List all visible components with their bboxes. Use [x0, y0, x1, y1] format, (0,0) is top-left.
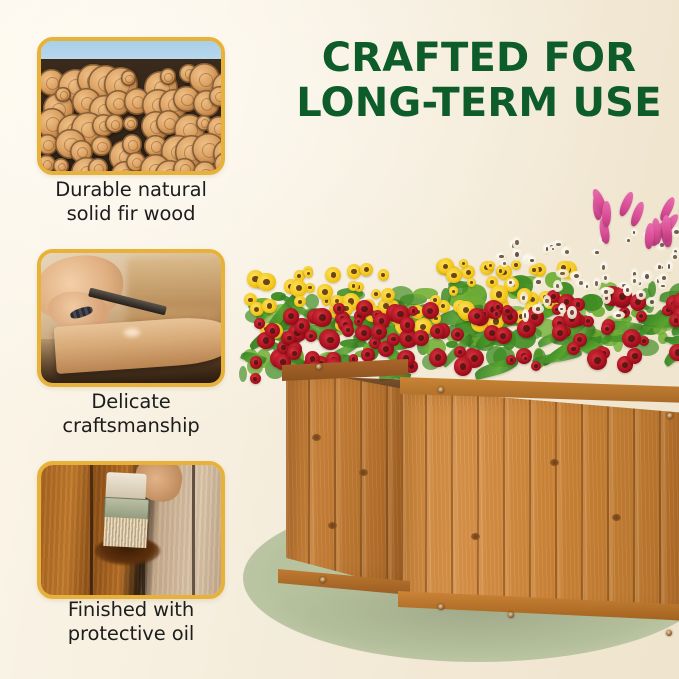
- wood-grain: [286, 367, 404, 589]
- cream-filler-flower: [520, 292, 528, 304]
- red-bloom: [283, 308, 300, 325]
- cream-filler-flower: [556, 269, 569, 279]
- cream-filler-flower: [631, 228, 638, 238]
- yellow-daisy: [371, 289, 382, 300]
- red-bloom: [342, 324, 355, 337]
- yellow-daisy: [304, 269, 313, 278]
- cream-filler-flower: [658, 283, 669, 290]
- red-bloom: [254, 318, 265, 329]
- cream-filler-flower: [543, 243, 550, 254]
- yellow-daisy: [511, 260, 521, 270]
- pink-lily-bud: [602, 201, 611, 227]
- red-bloom: [492, 310, 501, 319]
- log-end: [53, 158, 69, 171]
- cream-filler-flower: [549, 246, 556, 252]
- planter-left-panel: [286, 367, 404, 589]
- page-title: CRAFTED FOR LONG-TERM USE: [286, 38, 672, 124]
- screw-head: [438, 604, 444, 610]
- red-bloom: [495, 327, 512, 344]
- cream-filler-flower: [591, 249, 602, 256]
- feature-caption-2: Delicate craftsmanship: [20, 390, 242, 438]
- cream-filler-flower: [646, 297, 657, 307]
- log-end: [55, 87, 71, 103]
- wood-grain: [403, 389, 679, 621]
- red-bloom: [312, 308, 332, 328]
- stacked-fir-logs-photo: [41, 41, 221, 171]
- yellow-daisy: [378, 269, 389, 280]
- red-bloom: [552, 324, 569, 341]
- cream-filler-flower: [670, 252, 679, 262]
- headline-line-1: CRAFTED FOR: [322, 35, 637, 81]
- red-bloom: [636, 311, 647, 322]
- red-bloom: [250, 356, 262, 368]
- caption-2-line-1: Delicate: [91, 390, 170, 413]
- screw-head: [667, 413, 673, 419]
- log-end: [160, 68, 176, 84]
- cream-filler-flower: [602, 273, 610, 284]
- cream-filler-flower: [512, 236, 522, 249]
- feature-caption-3: Finished with protective oil: [20, 598, 242, 646]
- cream-filler-flower: [532, 304, 544, 314]
- red-bloom: [305, 330, 317, 342]
- red-bloom: [413, 330, 429, 346]
- log-end: [209, 86, 221, 107]
- yellow-daisy: [446, 268, 461, 283]
- yellow-daisy: [486, 261, 495, 270]
- plank-seam: [192, 465, 195, 595]
- hand-carving-wood-photo: [41, 253, 221, 383]
- infographic-canvas: CRAFTED FOR LONG-TERM USE Durable natura…: [0, 0, 679, 679]
- screw-head: [438, 387, 444, 393]
- cream-filler-flower: [601, 287, 610, 297]
- cream-filler-flower: [512, 247, 522, 261]
- brush-bristles: [103, 517, 148, 548]
- caption-1-line-1: Durable natural: [55, 178, 207, 201]
- cream-filler-flower: [553, 280, 562, 292]
- foliage-blob: [305, 294, 319, 309]
- red-bloom: [567, 342, 580, 355]
- feature-card-craftsmanship[interactable]: [37, 249, 225, 387]
- caption-2-line-2: craftsmanship: [62, 414, 199, 437]
- red-bloom: [321, 330, 340, 349]
- cream-filler-flower: [636, 290, 646, 300]
- pink-lily-bud: [629, 200, 647, 227]
- yellow-daisy: [467, 278, 476, 287]
- screw-head: [508, 612, 514, 618]
- red-bloom: [354, 317, 363, 326]
- yellow-daisy: [290, 280, 307, 297]
- red-bloom: [400, 317, 416, 333]
- screw-head: [666, 630, 672, 636]
- yellow-daisy: [325, 267, 341, 283]
- caption-3-line-1: Finished with: [68, 598, 194, 621]
- wood-knot: [550, 459, 559, 466]
- wooden-planter-box[interactable]: [286, 355, 679, 625]
- red-bloom: [601, 323, 613, 335]
- yellow-daisy: [360, 263, 373, 276]
- planter-front-panel: [403, 389, 679, 621]
- feature-caption-1: Durable natural solid fir wood: [20, 178, 242, 226]
- yellow-daisy: [317, 284, 333, 300]
- cream-filler-flower: [583, 281, 590, 291]
- cream-filler-flower: [561, 246, 572, 257]
- red-bloom: [468, 308, 485, 325]
- wood-knot: [312, 434, 321, 441]
- screw-head: [320, 577, 326, 583]
- cream-filler-flower: [526, 256, 538, 264]
- wood-knot: [471, 533, 480, 540]
- feature-card-protective-oil[interactable]: [37, 461, 225, 599]
- cream-filler-flower: [593, 277, 601, 290]
- brush-applying-oil-photo: [41, 465, 221, 595]
- cream-filler-flower: [630, 275, 640, 287]
- cream-filler-flower: [533, 277, 545, 288]
- headline-line-2: LONG-TERM USE: [286, 83, 672, 124]
- yellow-daisy: [348, 281, 358, 291]
- red-bloom: [387, 333, 400, 346]
- log-end: [121, 70, 137, 86]
- yellow-daisy: [294, 296, 305, 307]
- cream-filler-flower: [567, 306, 577, 320]
- cream-filler-flower: [507, 279, 515, 287]
- plank-seam: [90, 465, 93, 595]
- red-bloom: [430, 324, 445, 339]
- caption-1-line-2: solid fir wood: [67, 202, 196, 225]
- yellow-daisy: [257, 273, 276, 292]
- red-bloom: [250, 373, 261, 384]
- red-bloom: [669, 314, 679, 327]
- cream-filler-flower: [522, 309, 528, 322]
- foliage-blob: [239, 366, 247, 383]
- cream-filler-flower: [625, 237, 632, 244]
- caption-3-line-2: protective oil: [68, 622, 194, 645]
- cream-filler-flower: [495, 252, 507, 261]
- feature-card-durable-wood[interactable]: [37, 37, 225, 175]
- screw-head: [316, 364, 322, 370]
- cream-filler-flower: [666, 260, 673, 273]
- yellow-daisy: [262, 299, 277, 314]
- planter-top-rail-left: [282, 359, 408, 381]
- log-end: [123, 116, 138, 131]
- cream-filler-flower: [600, 261, 608, 275]
